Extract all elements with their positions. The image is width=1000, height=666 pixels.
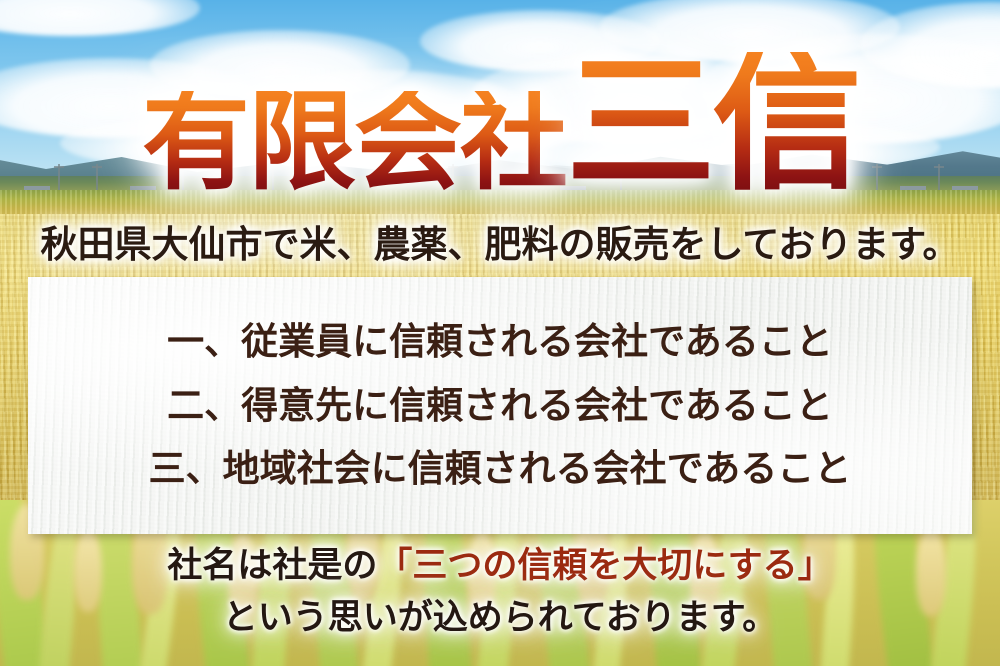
content-layer: 有限会社 三信 秋田県大仙市で米、農薬、肥料の販売をしております。 一、従業員に… [0,0,1000,666]
principle-item-2: 二、得意先に信頼される会社であること [167,376,833,436]
footer-line-1-accent: 「三つの信頼を大切にする」 [377,545,832,586]
footer-line-1-prefix: 社名は社是の [167,545,377,586]
business-description: 秋田県大仙市で米、農薬、肥料の販売をしております。 [0,214,1000,268]
principles-panel: 一、従業員に信頼される会社であること 二、得意先に信頼される会社であること 三、… [28,277,972,534]
company-title-prefix: 有限会社 [142,91,566,194]
footer-line-1: 社名は社是の「三つの信頼を大切にする」 [0,540,1000,592]
banner-stage: 有限会社 三信 秋田県大仙市で米、農薬、肥料の販売をしております。 一、従業員に… [0,0,1000,666]
principle-item-3: 三、地域社会に信頼される会社であること [149,439,852,499]
company-title: 有限会社 三信 [0,34,1000,194]
principle-item-1: 一、従業員に信頼される会社であること [167,312,833,372]
principles-list: 一、従業員に信頼される会社であること 二、得意先に信頼される会社であること 三、… [28,277,972,534]
footer-line-2: という思いが込められております。 [0,592,1000,644]
company-title-prefix-wrap: 有限会社 [142,91,566,194]
footer-note: 社名は社是の「三つの信頼を大切にする」 という思いが込められております。 [0,540,1000,644]
company-title-main-wrap: 三信 [566,52,858,195]
company-title-main: 三信 [566,52,858,195]
